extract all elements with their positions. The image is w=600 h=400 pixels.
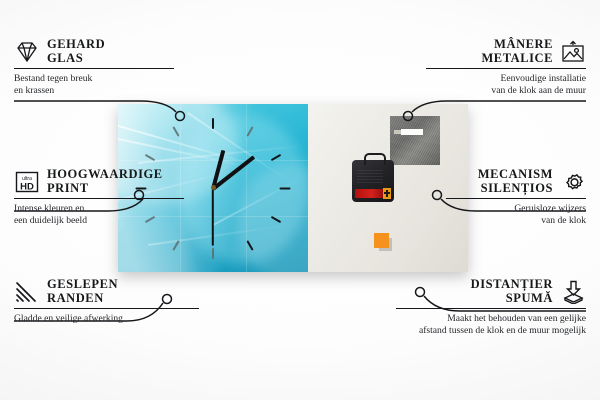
callout-desc: Bestand tegen breuk en krassen [14, 73, 174, 96]
callout-mecanism-silentios[interactable]: MECANISM SILENȚIOS Geruisloze wijzers va… [446, 168, 586, 227]
callout-desc: Eenvoudige installatie van de klok aan d… [426, 73, 586, 96]
metal-hanger-plate [390, 116, 440, 165]
battery [355, 189, 385, 198]
callout-desc: Geruisloze wijzers van de klok [446, 203, 586, 226]
press-down-pad-icon [560, 280, 586, 304]
callout-title: DISTANȚIER SPUMĂ [471, 278, 553, 305]
callout-distantier-spuma[interactable]: DISTANȚIER SPUMĂ Maakt het behouden van … [396, 278, 586, 337]
divider [14, 68, 174, 69]
callout-manere-metalice[interactable]: MÂNERE METALICE Eenvoudige installatie v… [426, 38, 586, 97]
divider [14, 308, 199, 309]
callout-desc: Gladde en veilige afwerking [14, 313, 199, 325]
callout-title: HOOGWAARDIGE PRINT [47, 168, 163, 195]
svg-text:HD: HD [20, 181, 34, 192]
callout-title: MECANISM SILENȚIOS [478, 168, 553, 195]
callout-desc: Maakt het behouden van een gelijke afsta… [396, 313, 586, 336]
divider [446, 198, 586, 199]
divider [426, 68, 586, 69]
callout-gehard-glas[interactable]: GEHARD GLAS Bestand tegen breuk en krass… [14, 38, 174, 97]
divider [396, 308, 586, 309]
clock-back-panel [308, 104, 468, 272]
callout-desc: Intense kleuren en een duidelijk beeld [14, 203, 184, 226]
infographic-canvas: GEHARD GLAS Bestand tegen breuk en krass… [0, 0, 600, 400]
divider [14, 198, 184, 199]
diamond-icon [14, 40, 40, 64]
callout-hoogwaardige-print[interactable]: ultra HD HOOGWAARDIGE PRINT Intense kleu… [14, 168, 184, 227]
callout-geslepen-randen[interactable]: GESLEPEN RANDEN Gladde en veilige afwerk… [14, 278, 199, 325]
callout-title: GESLEPEN RANDEN [47, 278, 118, 305]
clock-second-hand [212, 189, 214, 246]
ultra-hd-icon: ultra HD [14, 170, 40, 194]
callout-title: GEHARD GLAS [47, 38, 105, 65]
beveled-edges-icon [14, 280, 40, 304]
picture-hanging-icon [560, 40, 586, 64]
foam-spacer [374, 233, 389, 248]
clock-mechanism [352, 160, 394, 202]
gear-icon [560, 170, 586, 194]
callout-title: MÂNERE METALICE [481, 38, 553, 65]
